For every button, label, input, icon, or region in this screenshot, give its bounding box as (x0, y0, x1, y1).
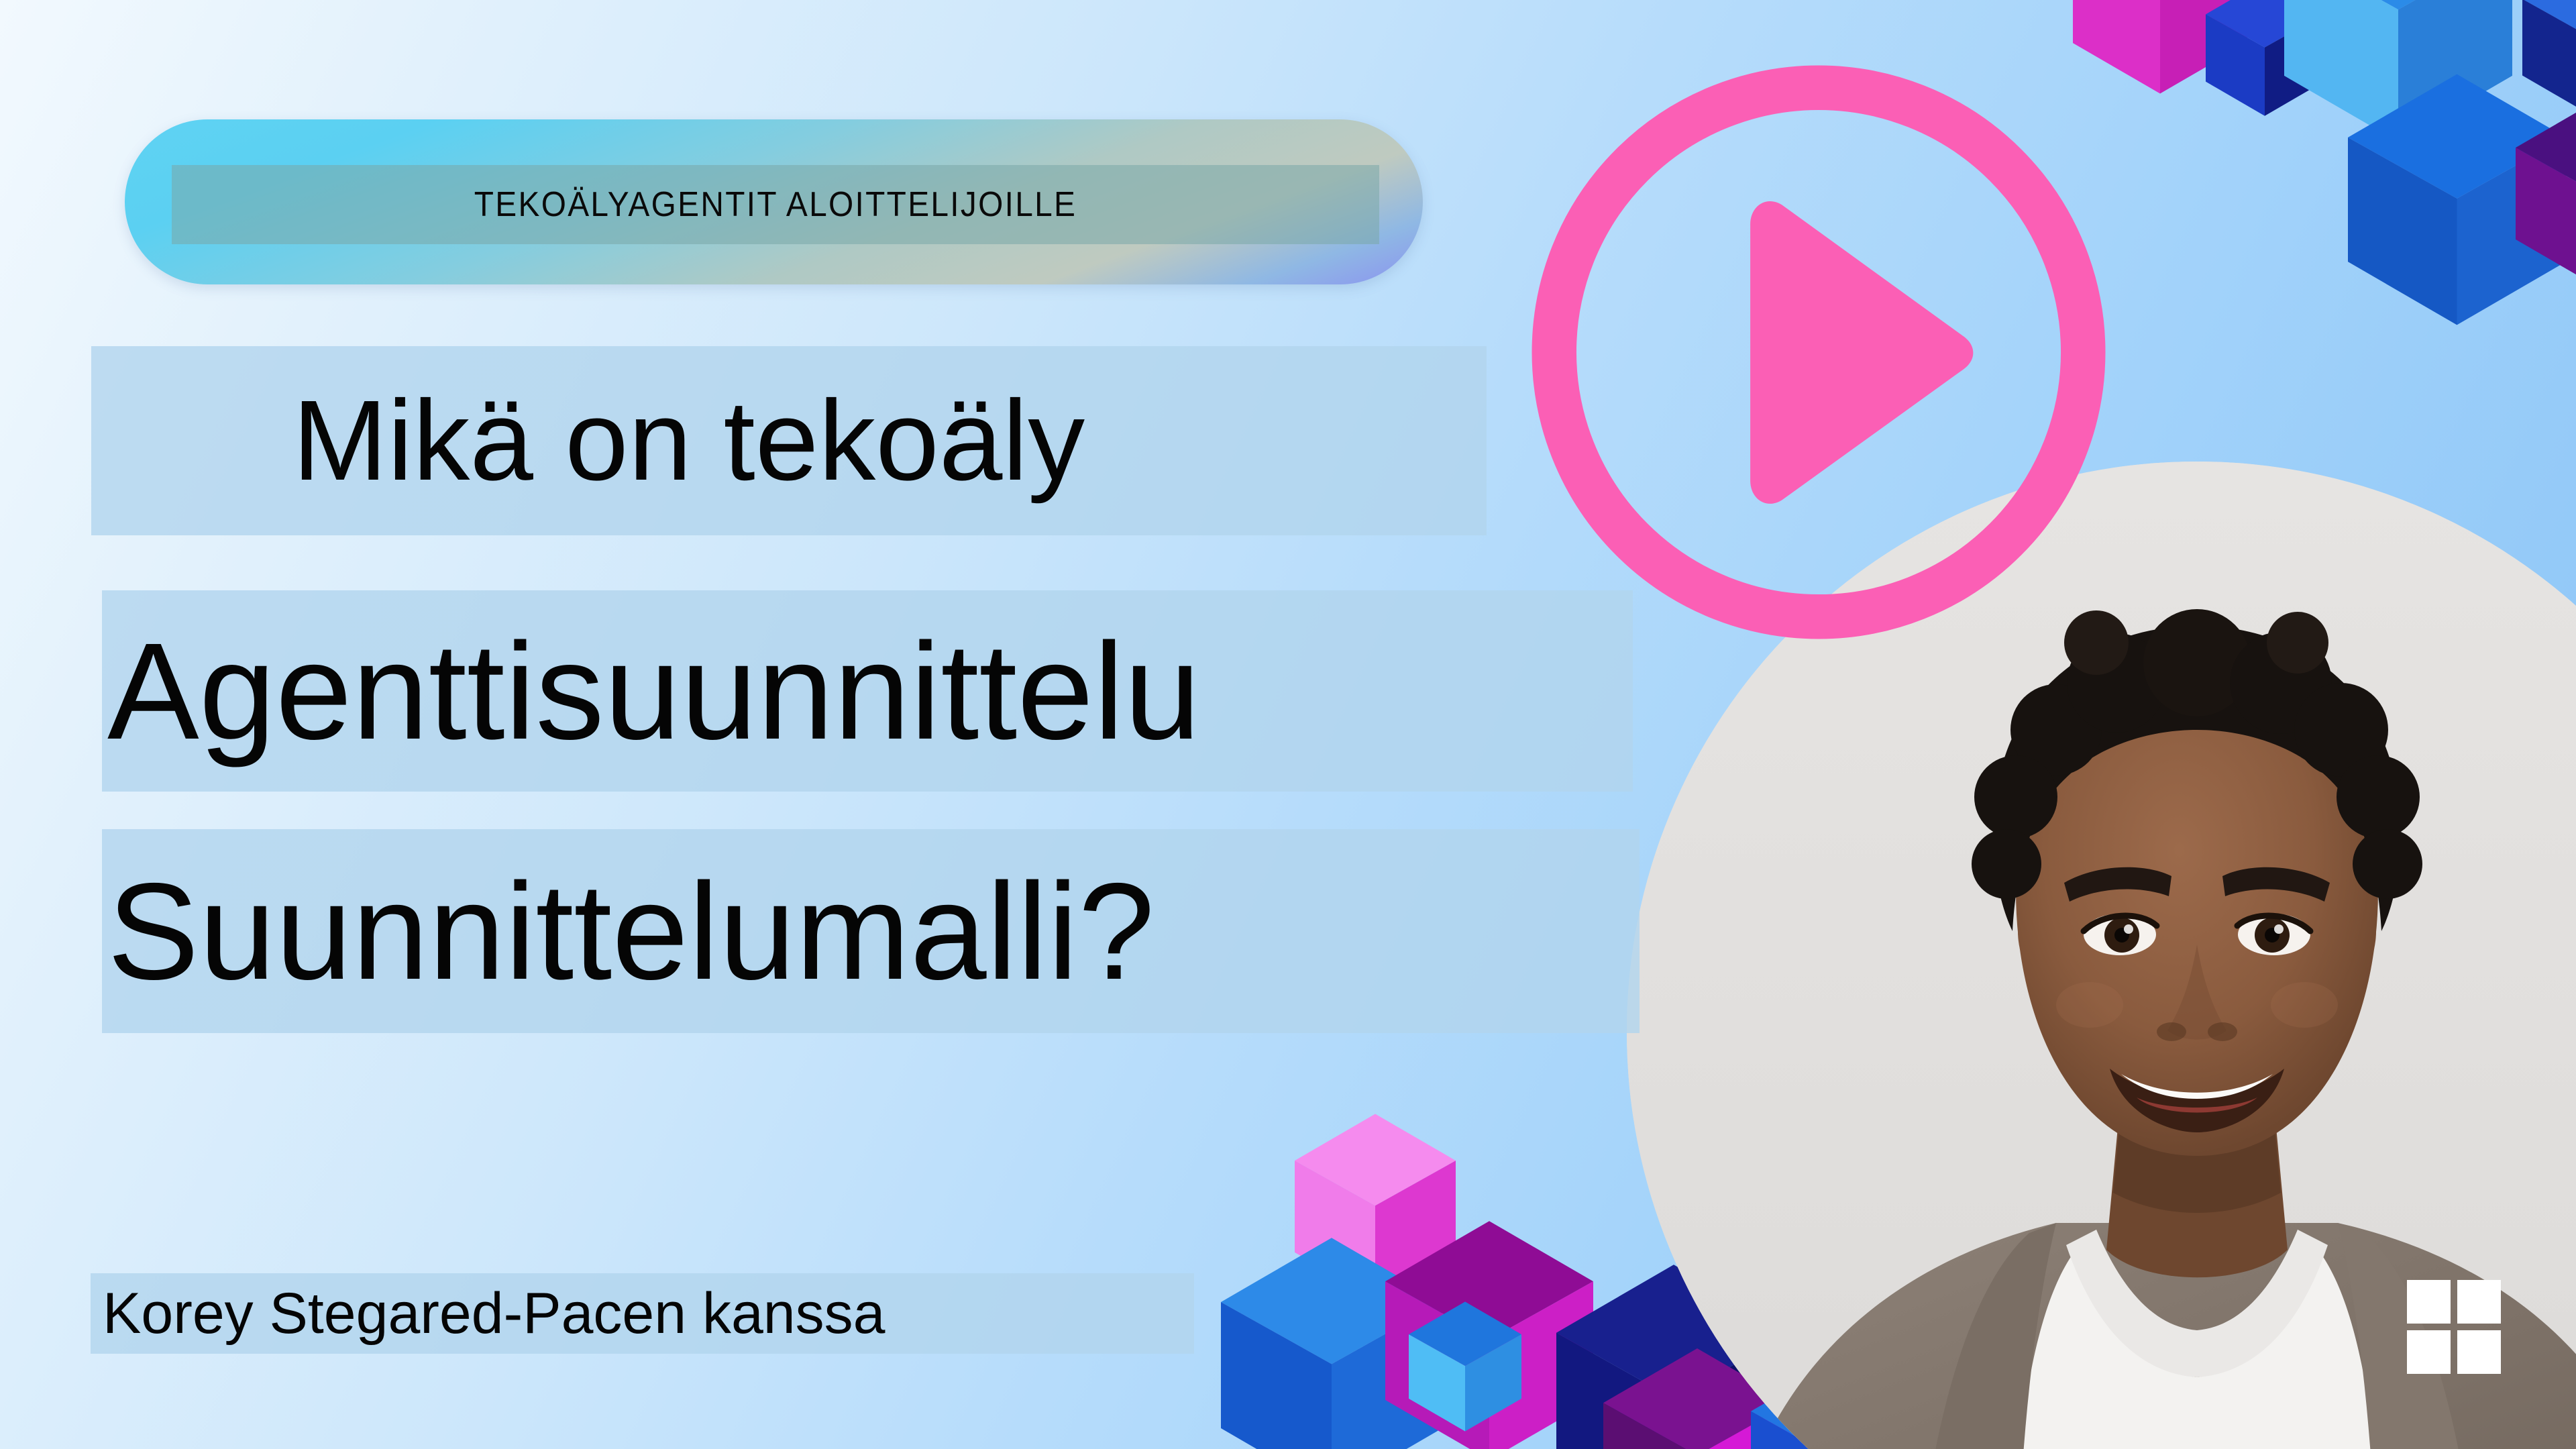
ms-logo-square-1 (2407, 1280, 2451, 1324)
cube-cyan-bottom (1409, 1301, 1521, 1432)
title-band-line-3: Suunnittelumalli? (102, 829, 1640, 1033)
play-icon[interactable] (1521, 55, 2116, 649)
ms-logo-square-4 (2457, 1330, 2501, 1374)
presenter-name: Korey Stegared-Pacen kanssa (91, 1281, 885, 1347)
title-line-3: Suunnittelumalli? (102, 863, 1155, 1000)
ms-logo-square-2 (2457, 1280, 2501, 1324)
cube-cluster-top-right (2053, 0, 2576, 349)
eyebrow-pill: TEKOÄLYAGENTIT ALOITTELIJOILLE (125, 119, 1423, 284)
eyebrow-label: TEKOÄLYAGENTIT ALOITTELIJOILLE (220, 184, 1331, 225)
title-line-2: Agenttisuunnittelu (102, 623, 1201, 760)
title-band-line-2: Agenttisuunnittelu (102, 590, 1633, 792)
eyebrow-text-band: TEKOÄLYAGENTIT ALOITTELIJOILLE (172, 165, 1379, 244)
microsoft-logo-icon (2407, 1280, 2501, 1374)
ms-logo-square-3 (2407, 1330, 2451, 1374)
slide-canvas: TEKOÄLYAGENTIT ALOITTELIJOILLE Mikä on t… (0, 0, 2576, 1449)
presenter-band: Korey Stegared-Pacen kanssa (91, 1273, 1194, 1354)
title-line-1: Mikä on tekoäly (91, 384, 1085, 498)
cube-blue-3 (2522, 0, 2576, 115)
cube-purple-1 (2516, 101, 2576, 286)
play-button[interactable] (1521, 55, 2116, 649)
title-band-line-1: Mikä on tekoäly (91, 346, 1487, 535)
